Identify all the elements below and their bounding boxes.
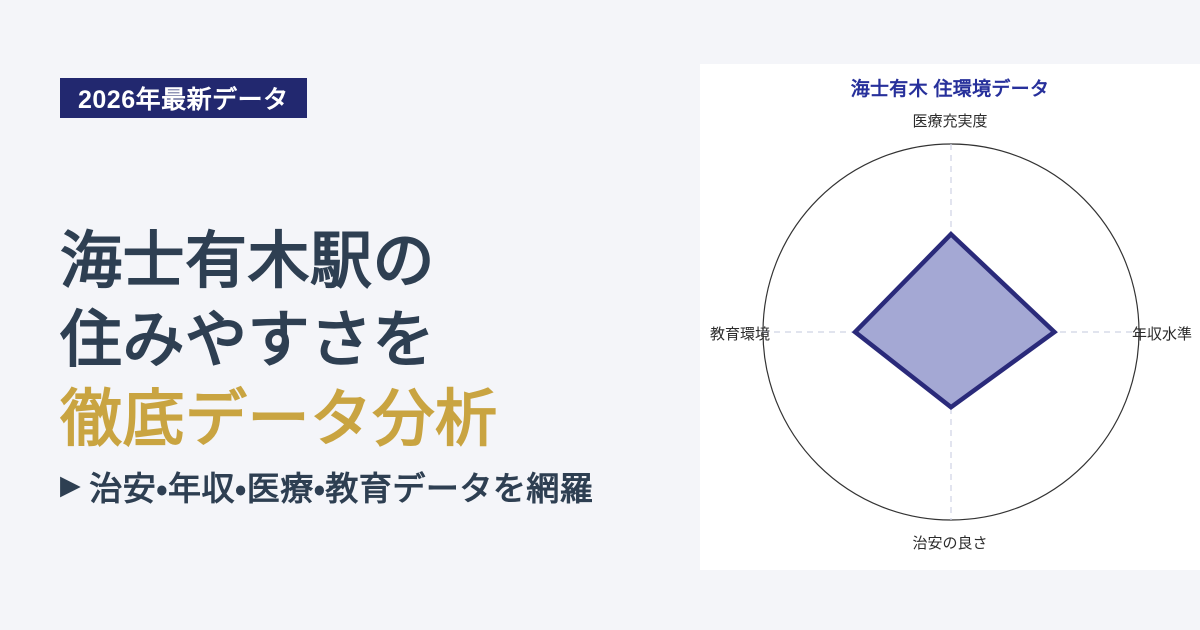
radar-chart: 医療充実度 年収水準 治安の良さ 教育環境 [700, 64, 1200, 570]
subtitle-label: 治安・年収・医療・教育データを網羅 [89, 462, 593, 510]
axis-label-safety: 治安の良さ [700, 532, 1200, 553]
radar-svg [700, 64, 1200, 570]
subtitle: ▶ 治安・年収・医療・教育データを網羅 [60, 462, 593, 510]
play-triangle-icon: ▶ [60, 472, 81, 499]
axis-label-income: 年収水準 [1132, 323, 1192, 344]
axis-label-education: 教育環境 [710, 323, 770, 344]
headline-line-1: 海士有木駅の [60, 222, 700, 301]
badge-label: 2026年最新データ [78, 80, 289, 116]
headline-accent-line: 徹底データ分析 [60, 380, 700, 459]
hero-column: 2026年最新データ 海士有木駅の 住みやすさを 徹底データ分析 ▶ 治安・年収… [60, 0, 700, 630]
headline-line-2: 住みやすさを [60, 301, 700, 380]
axis-label-medical: 医療充実度 [700, 110, 1200, 131]
latest-data-badge: 2026年最新データ [60, 78, 307, 118]
radar-series-polygon [855, 234, 1054, 407]
chart-panel: 海士有木 住環境データ 医療充実度 年収水準 治安の良さ 教育環境 [700, 64, 1200, 570]
page-title: 海士有木駅の 住みやすさを 徹底データ分析 [60, 222, 700, 460]
